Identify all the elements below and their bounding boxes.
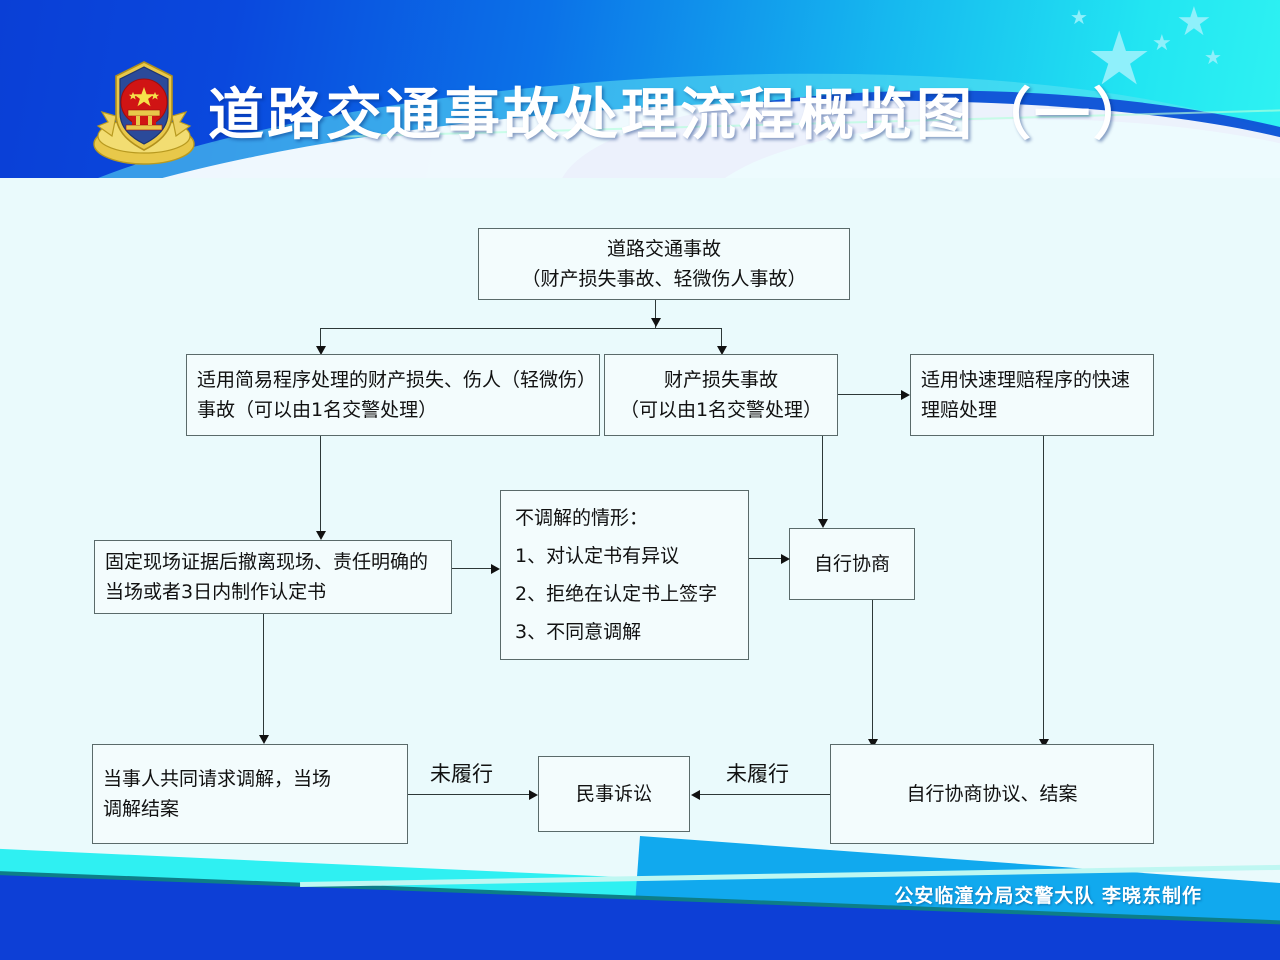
- node-road-traffic-accident[interactable]: 道路交通事故 （财产损失事故、轻微伤人事故）: [478, 228, 850, 300]
- node-property-loss-accident[interactable]: 财产损失事故 （可以由1名交警处理）: [604, 354, 838, 436]
- star-small-b-icon: ★: [1152, 32, 1172, 54]
- node-line: 当场或者3日内制作认定书: [105, 577, 441, 607]
- star-small-c-icon: ★: [1204, 48, 1222, 68]
- edge-label-right-unperformed: 未履行: [726, 758, 789, 788]
- node-line: 固定现场证据后撤离现场、责任明确的: [105, 547, 441, 577]
- node-fast-claim-procedure[interactable]: 适用快速理赔程序的快速 理赔处理: [910, 354, 1154, 436]
- footer-credit: 公安临潼分局交警大队 李晓东制作: [894, 881, 1202, 908]
- node-self-negotiate[interactable]: 自行协商: [789, 528, 915, 600]
- edge-nomediation-to-negotiate: [749, 558, 781, 559]
- edge-fix-to-nomediation: [452, 568, 491, 569]
- node-joint-mediation[interactable]: 当事人共同请求调解，当场 调解结案: [92, 744, 408, 844]
- node-line: 2、拒绝在认定书上签字: [515, 575, 734, 613]
- edge-agreement-to-lawsuit: [700, 794, 830, 795]
- arrow-to-fix-evidence: [316, 531, 326, 540]
- footer-banner: 公安临潼分局交警大队 李晓东制作: [0, 830, 1280, 960]
- arrow-to-civil-lawsuit-left: [529, 790, 538, 800]
- node-line: 3、不同意调解: [515, 613, 734, 651]
- arrow-to-fast-claim: [901, 390, 910, 400]
- edge-property-to-fastclaim: [838, 394, 901, 395]
- node-line: 当事人共同请求调解，当场: [103, 764, 397, 794]
- police-emblem-icon: [92, 56, 196, 166]
- node-line: （财产损失事故、轻微伤人事故）: [521, 264, 806, 294]
- edge-simple-to-fix: [320, 436, 321, 535]
- edge-property-to-negotiate: [822, 436, 823, 523]
- arrow-to-no-mediation: [491, 564, 500, 574]
- node-line: 自行协商: [814, 549, 890, 579]
- node-line: 理赔处理: [921, 395, 1143, 425]
- arrow-to-joint-mediation: [259, 735, 269, 744]
- node-line: 不调解的情形：: [515, 499, 734, 537]
- node-fix-evidence[interactable]: 固定现场证据后撤离现场、责任明确的 当场或者3日内制作认定书: [94, 540, 452, 614]
- arrow-to-self-negotiate: [818, 519, 828, 528]
- node-line: 事故（可以由1名交警处理）: [197, 395, 589, 425]
- node-line: 民事诉讼: [576, 779, 652, 809]
- star-medium-icon: ★: [1176, 2, 1212, 42]
- node-negotiate-agreement[interactable]: 自行协商协议、结案: [830, 744, 1154, 844]
- poster-root: ★ ★ ★ ★ ★ 道路交通事故处理流程概览图（一） 道路交通: [0, 0, 1280, 960]
- flowchart-canvas: 道路交通事故 （财产损失事故、轻微伤人事故） 适用简易程序处理的财产损失、伤人（…: [0, 178, 1280, 878]
- node-line: 自行协商协议、结案: [906, 779, 1077, 809]
- arrow-to-property-loss-center: [651, 318, 661, 327]
- edge-distribution-bar: [320, 328, 721, 329]
- node-line: 道路交通事故: [607, 234, 721, 264]
- arrow-to-self-negotiate-side: [781, 554, 790, 564]
- node-line: 适用快速理赔程序的快速: [921, 365, 1143, 395]
- arrow-to-civil-lawsuit-right: [691, 790, 700, 800]
- edge-negotiate-to-agreement: [872, 600, 873, 743]
- node-civil-lawsuit[interactable]: 民事诉讼: [538, 756, 690, 832]
- edge-label-left-unperformed: 未履行: [430, 758, 493, 788]
- node-line: 财产损失事故: [664, 365, 778, 395]
- node-line: （可以由1名交警处理）: [620, 395, 822, 425]
- node-no-mediation-cases[interactable]: 不调解的情形： 1、对认定书有异议 2、拒绝在认定书上签字 3、不同意调解: [500, 490, 749, 660]
- page-title: 道路交通事故处理流程概览图（一）: [208, 70, 1208, 154]
- star-small-a-icon: ★: [1070, 8, 1088, 28]
- node-line: 调解结案: [103, 794, 397, 824]
- header-banner: ★ ★ ★ ★ ★ 道路交通事故处理流程概览图（一）: [0, 0, 1280, 178]
- node-simple-procedure[interactable]: 适用简易程序处理的财产损失、伤人（轻微伤） 事故（可以由1名交警处理）: [186, 354, 600, 436]
- edge-joint-to-lawsuit: [408, 794, 529, 795]
- node-line: 1、对认定书有异议: [515, 537, 734, 575]
- edge-fix-to-joint: [263, 614, 264, 739]
- node-line: 适用简易程序处理的财产损失、伤人（轻微伤）: [197, 365, 589, 395]
- edge-fastclaim-to-agreement: [1043, 436, 1044, 743]
